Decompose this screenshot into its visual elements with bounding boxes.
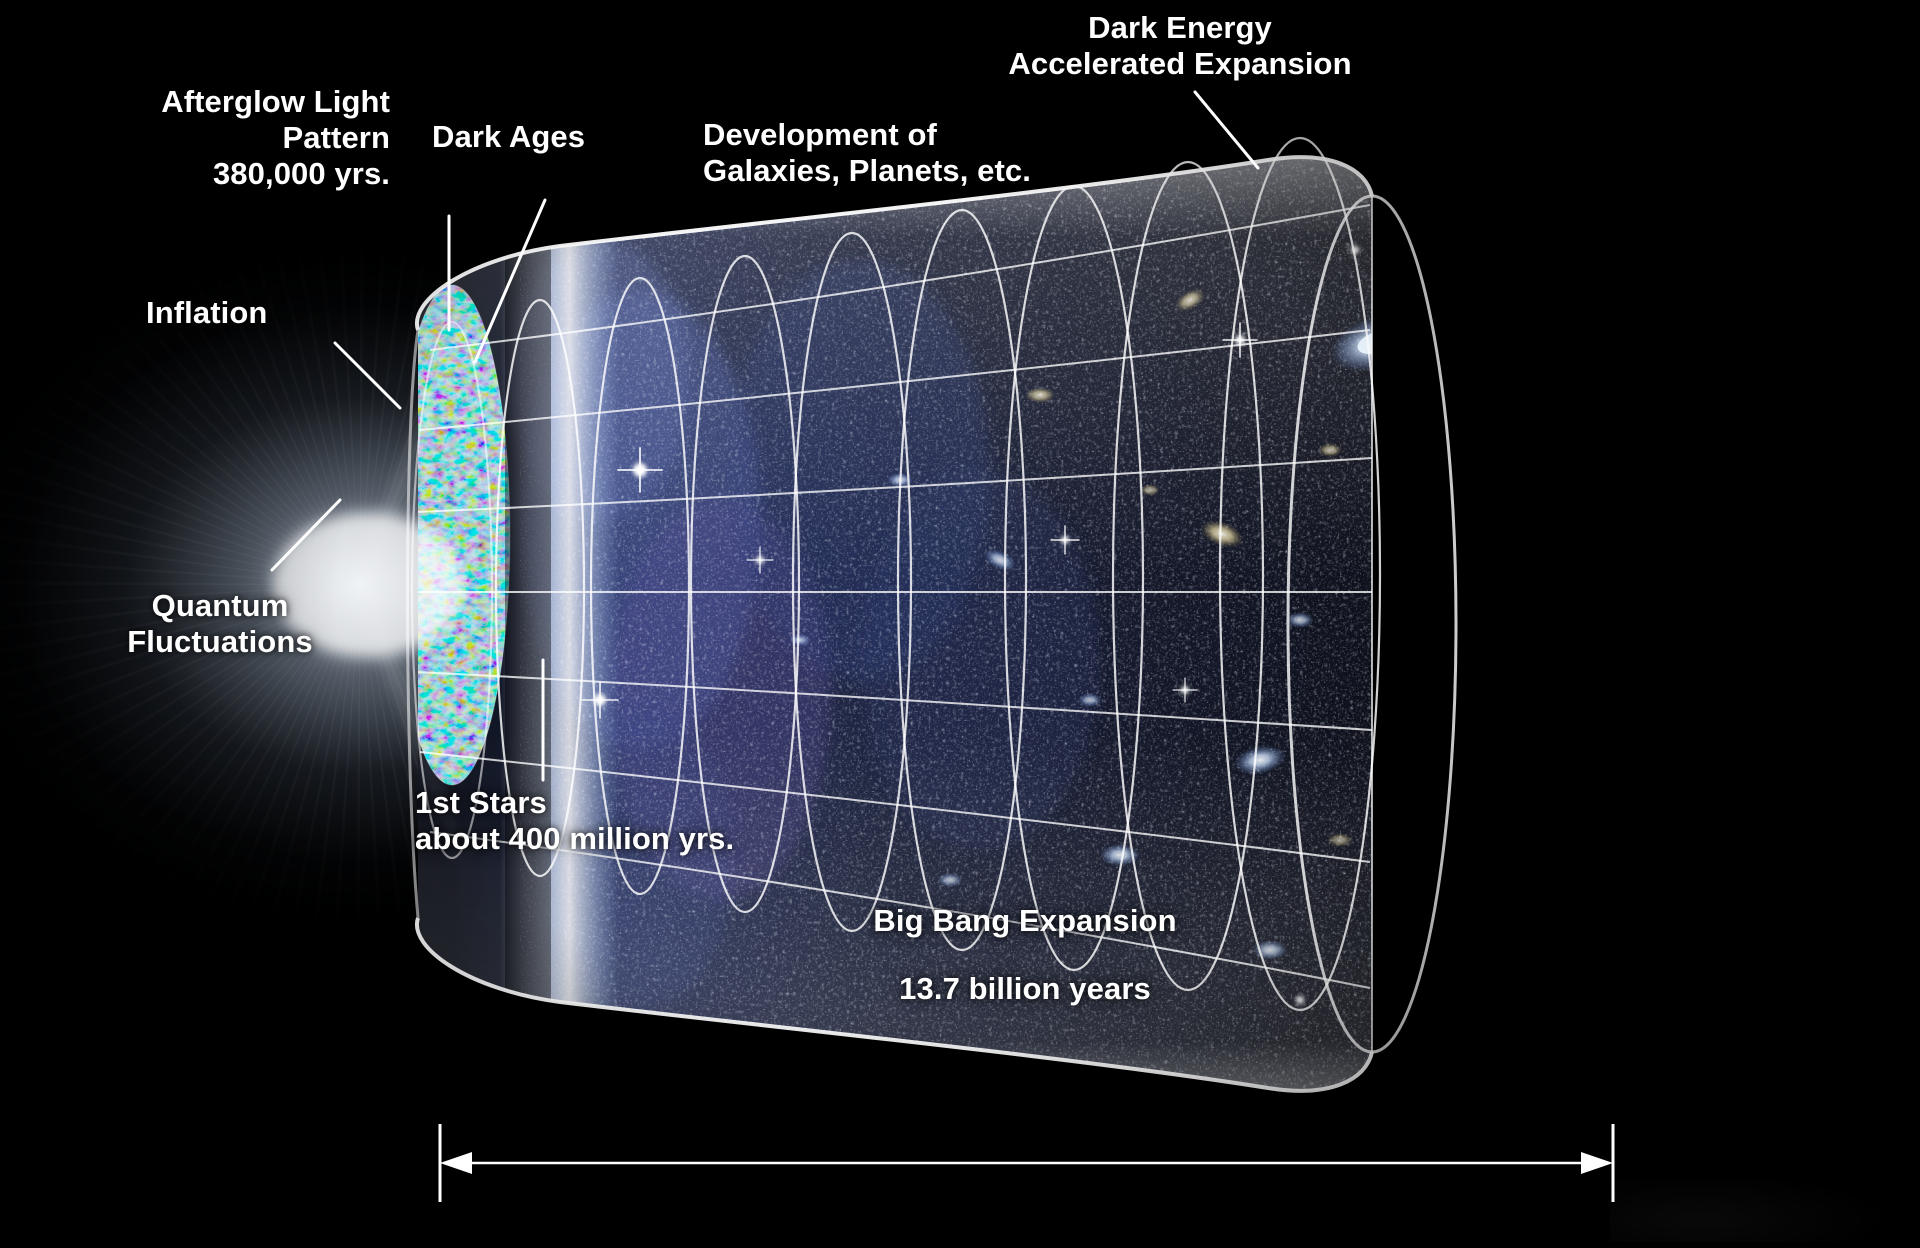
arrow-head-left [440,1152,472,1174]
arrow-head-right [1581,1152,1613,1174]
universe-timeline-figure: Afterglow Light Pattern 380,000 yrs. Dar… [0,0,1920,1248]
expansion-duration-arrow [0,0,1920,1248]
